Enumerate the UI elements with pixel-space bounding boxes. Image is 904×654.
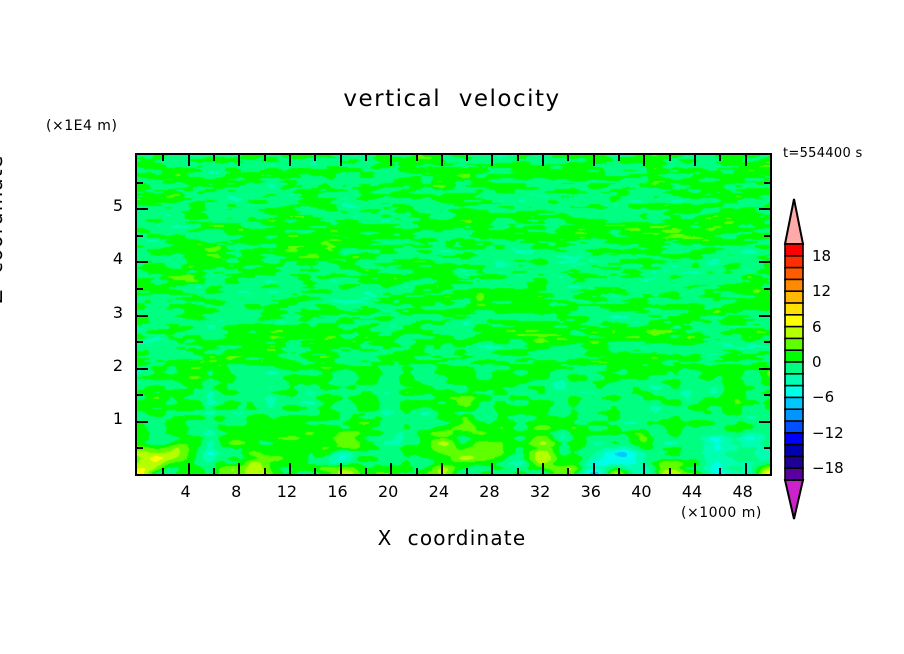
x-axis-tick bbox=[745, 463, 747, 474]
x-axis-tick bbox=[491, 463, 493, 474]
x-axis-tick bbox=[289, 463, 291, 474]
z-axis-tick-right bbox=[759, 421, 770, 423]
z-axis-tick-right bbox=[764, 288, 770, 290]
x-axis-tick bbox=[188, 463, 190, 474]
z-axis-unit-label: (×1E4 m) bbox=[46, 118, 117, 134]
z-axis-tick bbox=[137, 182, 143, 184]
x-tick-label: 24 bbox=[419, 482, 459, 501]
contour-plot-area bbox=[135, 153, 772, 476]
x-axis-tick-top bbox=[340, 155, 342, 166]
x-axis-tick bbox=[694, 463, 696, 474]
colorbar-tick-label: −6 bbox=[812, 388, 834, 406]
x-axis-tick bbox=[517, 468, 519, 474]
colorbar-tick-label: 12 bbox=[812, 282, 831, 300]
z-axis-tick-right bbox=[759, 261, 770, 263]
x-axis-tick-top bbox=[745, 155, 747, 166]
z-axis-tick-right bbox=[764, 235, 770, 237]
x-axis-tick bbox=[264, 468, 266, 474]
x-axis-tick-top bbox=[542, 155, 544, 166]
x-axis-tick bbox=[314, 468, 316, 474]
x-axis-tick bbox=[466, 468, 468, 474]
x-tick-label: 40 bbox=[621, 482, 661, 501]
x-axis-tick-top bbox=[162, 155, 164, 161]
x-axis-tick-top bbox=[643, 155, 645, 166]
x-axis-tick-top bbox=[567, 155, 569, 161]
colorbar-tick-label: −18 bbox=[812, 459, 844, 477]
x-axis-tick bbox=[567, 468, 569, 474]
x-axis-tick bbox=[542, 463, 544, 474]
x-tick-label: 12 bbox=[267, 482, 307, 501]
x-axis-tick bbox=[340, 463, 342, 474]
x-axis-tick-top bbox=[491, 155, 493, 166]
z-axis-tick-right bbox=[759, 208, 770, 210]
colorbar-tick-label: 18 bbox=[812, 247, 831, 265]
x-axis-tick-top bbox=[390, 155, 392, 166]
x-axis-tick bbox=[390, 463, 392, 474]
z-tick-label: 5 bbox=[93, 196, 123, 215]
page-title: vertical velocity bbox=[0, 86, 904, 112]
z-axis-tick bbox=[137, 288, 143, 290]
z-axis-tick-right bbox=[759, 368, 770, 370]
x-tick-label: 44 bbox=[672, 482, 712, 501]
colorbar-tick-label: 6 bbox=[812, 318, 822, 336]
z-axis-tick bbox=[137, 341, 143, 343]
x-axis-tick-top bbox=[416, 155, 418, 161]
x-axis-tick-top bbox=[517, 155, 519, 161]
vertical-velocity-field bbox=[137, 155, 770, 474]
x-tick-label: 32 bbox=[520, 482, 560, 501]
x-axis-tick bbox=[238, 463, 240, 474]
x-tick-label: 28 bbox=[469, 482, 509, 501]
z-tick-label: 2 bbox=[93, 356, 123, 375]
z-axis-tick-right bbox=[764, 182, 770, 184]
x-axis-tick-top bbox=[466, 155, 468, 161]
x-axis-tick-top bbox=[264, 155, 266, 161]
x-tick-label: 16 bbox=[318, 482, 358, 501]
x-axis-tick bbox=[416, 468, 418, 474]
z-tick-label: 4 bbox=[93, 249, 123, 268]
x-tick-label: 20 bbox=[368, 482, 408, 501]
z-axis-tick bbox=[137, 368, 148, 370]
x-axis-tick-top bbox=[694, 155, 696, 166]
z-axis-tick-right bbox=[764, 394, 770, 396]
x-axis-tick-top bbox=[289, 155, 291, 166]
x-axis-tick bbox=[365, 468, 367, 474]
colorbar bbox=[783, 198, 805, 520]
x-axis-tick-top bbox=[213, 155, 215, 161]
x-axis-tick-top bbox=[618, 155, 620, 161]
z-axis-tick bbox=[137, 235, 143, 237]
x-axis-unit-label: (×1000 m) bbox=[681, 505, 762, 521]
x-axis-tick-top bbox=[441, 155, 443, 166]
z-axis-tick-right bbox=[764, 447, 770, 449]
x-axis-tick bbox=[643, 463, 645, 474]
x-axis-title: X coordinate bbox=[0, 526, 904, 550]
x-axis-tick-top bbox=[238, 155, 240, 166]
x-tick-label: 36 bbox=[571, 482, 611, 501]
x-axis-tick-top bbox=[593, 155, 595, 166]
z-axis-tick-right bbox=[759, 315, 770, 317]
x-axis-tick-top bbox=[314, 155, 316, 161]
x-axis-tick bbox=[719, 468, 721, 474]
x-axis-tick-top bbox=[188, 155, 190, 166]
x-axis-tick bbox=[441, 463, 443, 474]
z-axis-tick bbox=[137, 421, 148, 423]
x-axis-tick-top bbox=[669, 155, 671, 161]
z-axis-tick bbox=[137, 447, 143, 449]
x-axis-tick bbox=[213, 468, 215, 474]
z-tick-label: 1 bbox=[93, 409, 123, 428]
figure-canvas: vertical velocity (×1E4 m) (×1000 m) t=5… bbox=[0, 0, 904, 654]
timestamp-annotation: t=554400 s bbox=[783, 146, 863, 161]
z-tick-label: 3 bbox=[93, 303, 123, 322]
z-axis-title: Z coordinate bbox=[0, 129, 7, 329]
x-axis-tick bbox=[593, 463, 595, 474]
z-axis-tick bbox=[137, 261, 148, 263]
x-axis-tick bbox=[669, 468, 671, 474]
colorbar-tick-label: 0 bbox=[812, 353, 822, 371]
z-axis-tick bbox=[137, 208, 148, 210]
x-tick-label: 4 bbox=[166, 482, 206, 501]
x-tick-label: 8 bbox=[216, 482, 256, 501]
x-axis-tick bbox=[618, 468, 620, 474]
z-axis-tick bbox=[137, 394, 143, 396]
x-tick-label: 48 bbox=[723, 482, 763, 501]
x-axis-tick bbox=[162, 468, 164, 474]
z-axis-tick bbox=[137, 315, 148, 317]
x-axis-tick-top bbox=[719, 155, 721, 161]
z-axis-tick-right bbox=[764, 341, 770, 343]
colorbar-tick-label: −12 bbox=[812, 424, 844, 442]
x-axis-tick-top bbox=[365, 155, 367, 161]
